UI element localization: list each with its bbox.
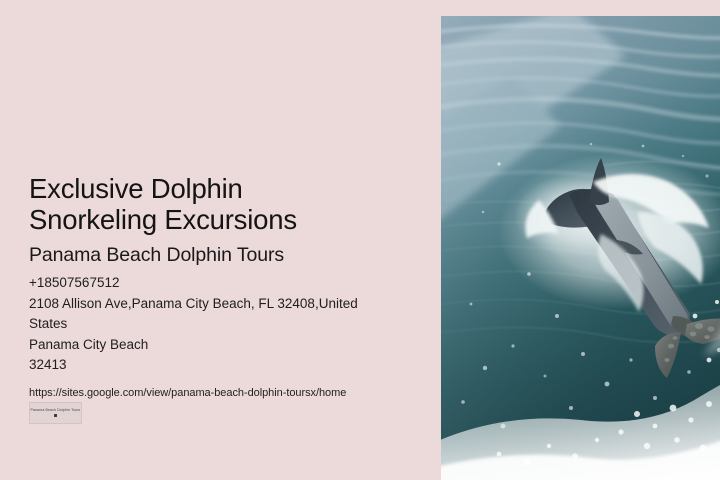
page-title: Exclusive Dolphin Snorkeling Excursions	[29, 173, 369, 235]
business-info-panel: Exclusive Dolphin Snorkeling Excursions …	[0, 0, 401, 480]
dolphin-photo-image	[441, 16, 720, 480]
city-name: Panama City Beach	[29, 335, 359, 356]
logo-mark-icon	[54, 414, 57, 417]
business-info-stack: Exclusive Dolphin Snorkeling Excursions …	[29, 173, 379, 402]
website-link[interactable]: https://sites.google.com/view/panama-bea…	[29, 384, 379, 402]
business-name: Panama Beach Dolphin Tours	[29, 243, 379, 267]
dolphin-photo	[441, 16, 720, 480]
promo-card: Exclusive Dolphin Snorkeling Excursions …	[0, 0, 720, 480]
street-address: 2108 Allison Ave,Panama City Beach, FL 3…	[29, 294, 359, 335]
postal-code: 32413	[29, 355, 359, 376]
logo-badge-label: Panama Beach Dolphin Tours	[31, 408, 81, 413]
phone-number[interactable]: +18507567512	[29, 273, 359, 294]
logo-badge[interactable]: Panama Beach Dolphin Tours	[29, 402, 82, 424]
